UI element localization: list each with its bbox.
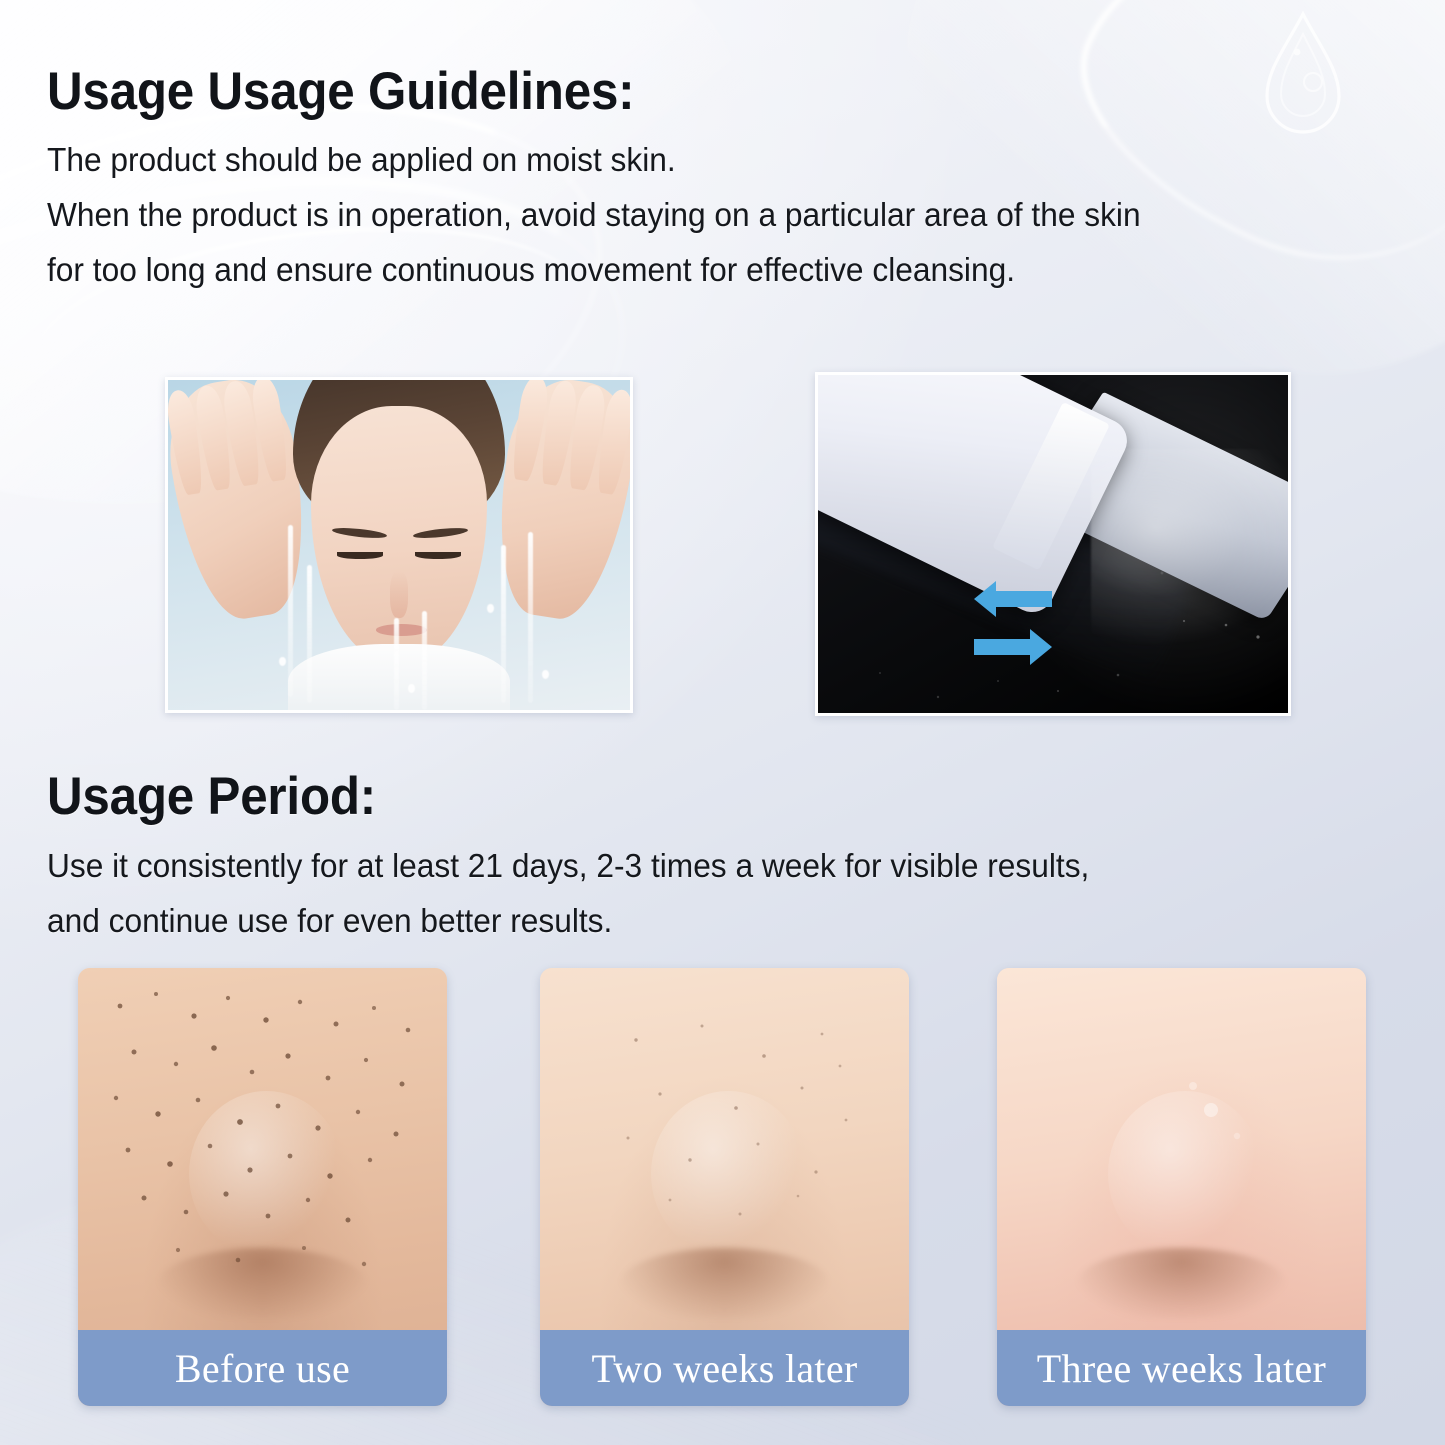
water-stream bbox=[288, 525, 293, 697]
eye-right bbox=[415, 552, 461, 559]
blackhead-texture-heavy bbox=[78, 968, 447, 1330]
photo-device-in-use bbox=[815, 372, 1291, 716]
lips bbox=[376, 624, 427, 636]
result-card-three-weeks: Three weeks later bbox=[997, 968, 1366, 1406]
water-droplet bbox=[279, 657, 286, 666]
water-droplet bbox=[408, 684, 415, 693]
result-card-two-weeks: Two weeks later bbox=[540, 968, 909, 1406]
caption-bar-three-weeks: Three weeks later bbox=[997, 1330, 1366, 1406]
caption-bar-before-use: Before use bbox=[78, 1330, 447, 1406]
result-card-before-use: Before use bbox=[78, 968, 447, 1406]
product-infographic: Usage Usage Guidelines: The product shou… bbox=[0, 0, 1445, 1445]
clear-skin-texture bbox=[997, 968, 1366, 1330]
usage-guidelines-body: The product should be applied on moist s… bbox=[47, 132, 1362, 297]
arrow-up-left-icon bbox=[968, 575, 1058, 623]
caption-label: Three weeks later bbox=[1037, 1345, 1326, 1392]
caption-bar-two-weeks: Two weeks later bbox=[540, 1330, 909, 1406]
usage-period-heading: Usage Period: bbox=[47, 766, 376, 827]
water-stream bbox=[422, 611, 427, 710]
water-stream bbox=[394, 618, 399, 710]
caption-label: Before use bbox=[175, 1345, 350, 1392]
water-stream bbox=[307, 565, 312, 704]
eye-left bbox=[337, 552, 383, 559]
nose bbox=[390, 571, 408, 617]
blackhead-texture-light bbox=[540, 968, 909, 1330]
water-stream bbox=[528, 532, 533, 704]
water-stream bbox=[501, 545, 506, 703]
arrow-down-right-icon bbox=[968, 623, 1058, 671]
usage-period-body: Use it consistently for at least 21 days… bbox=[47, 838, 1333, 948]
water-mist bbox=[1091, 449, 1291, 645]
photo-face-washing bbox=[165, 377, 633, 713]
usage-guidelines-heading: Usage Usage Guidelines: bbox=[47, 61, 634, 122]
water-droplet-icon bbox=[1255, 8, 1351, 144]
caption-label: Two weeks later bbox=[591, 1345, 857, 1392]
